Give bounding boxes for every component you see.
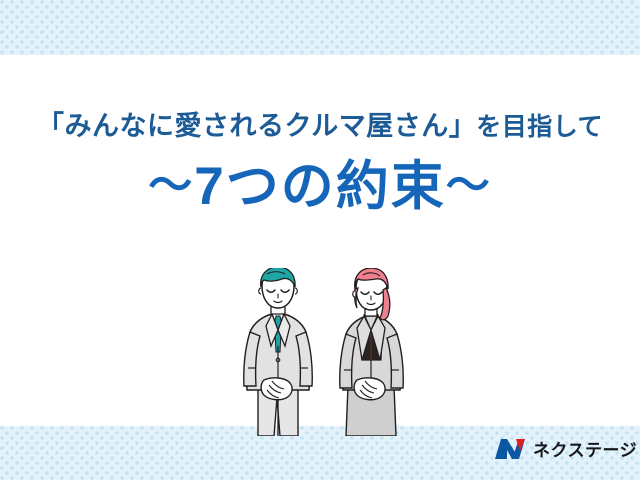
nextage-n-mark	[494, 438, 526, 460]
bowing-staff-illustration	[236, 268, 426, 436]
banner-text-block: 「みんなに愛されるクルマ屋さん」を目指して 〜7つの約束〜	[0, 110, 640, 217]
dotted-band-top	[0, 0, 640, 55]
title-tilde-right: 〜	[446, 161, 492, 210]
male-staff-figure	[244, 268, 313, 436]
banner-headline: 「みんなに愛されるクルマ屋さん」を目指して	[0, 110, 640, 142]
female-clasped-hands	[354, 378, 385, 400]
title-main-text: 7つの約束	[194, 157, 445, 216]
headline-quoted-phrase: 「みんなに愛されるクルマ屋さん」	[37, 111, 476, 141]
banner-title: 〜7つの約束〜	[0, 158, 640, 216]
headline-tail: を目指して	[476, 113, 603, 141]
title-tilde-left: 〜	[148, 161, 194, 210]
female-staff-figure	[340, 268, 404, 436]
nextage-logo: ネクステージ	[494, 436, 637, 461]
male-clasped-hands	[261, 378, 292, 400]
nextage-logo-text: ネクステージ	[533, 436, 637, 461]
promo-banner: 「みんなに愛されるクルマ屋さん」を目指して 〜7つの約束〜	[0, 0, 640, 480]
